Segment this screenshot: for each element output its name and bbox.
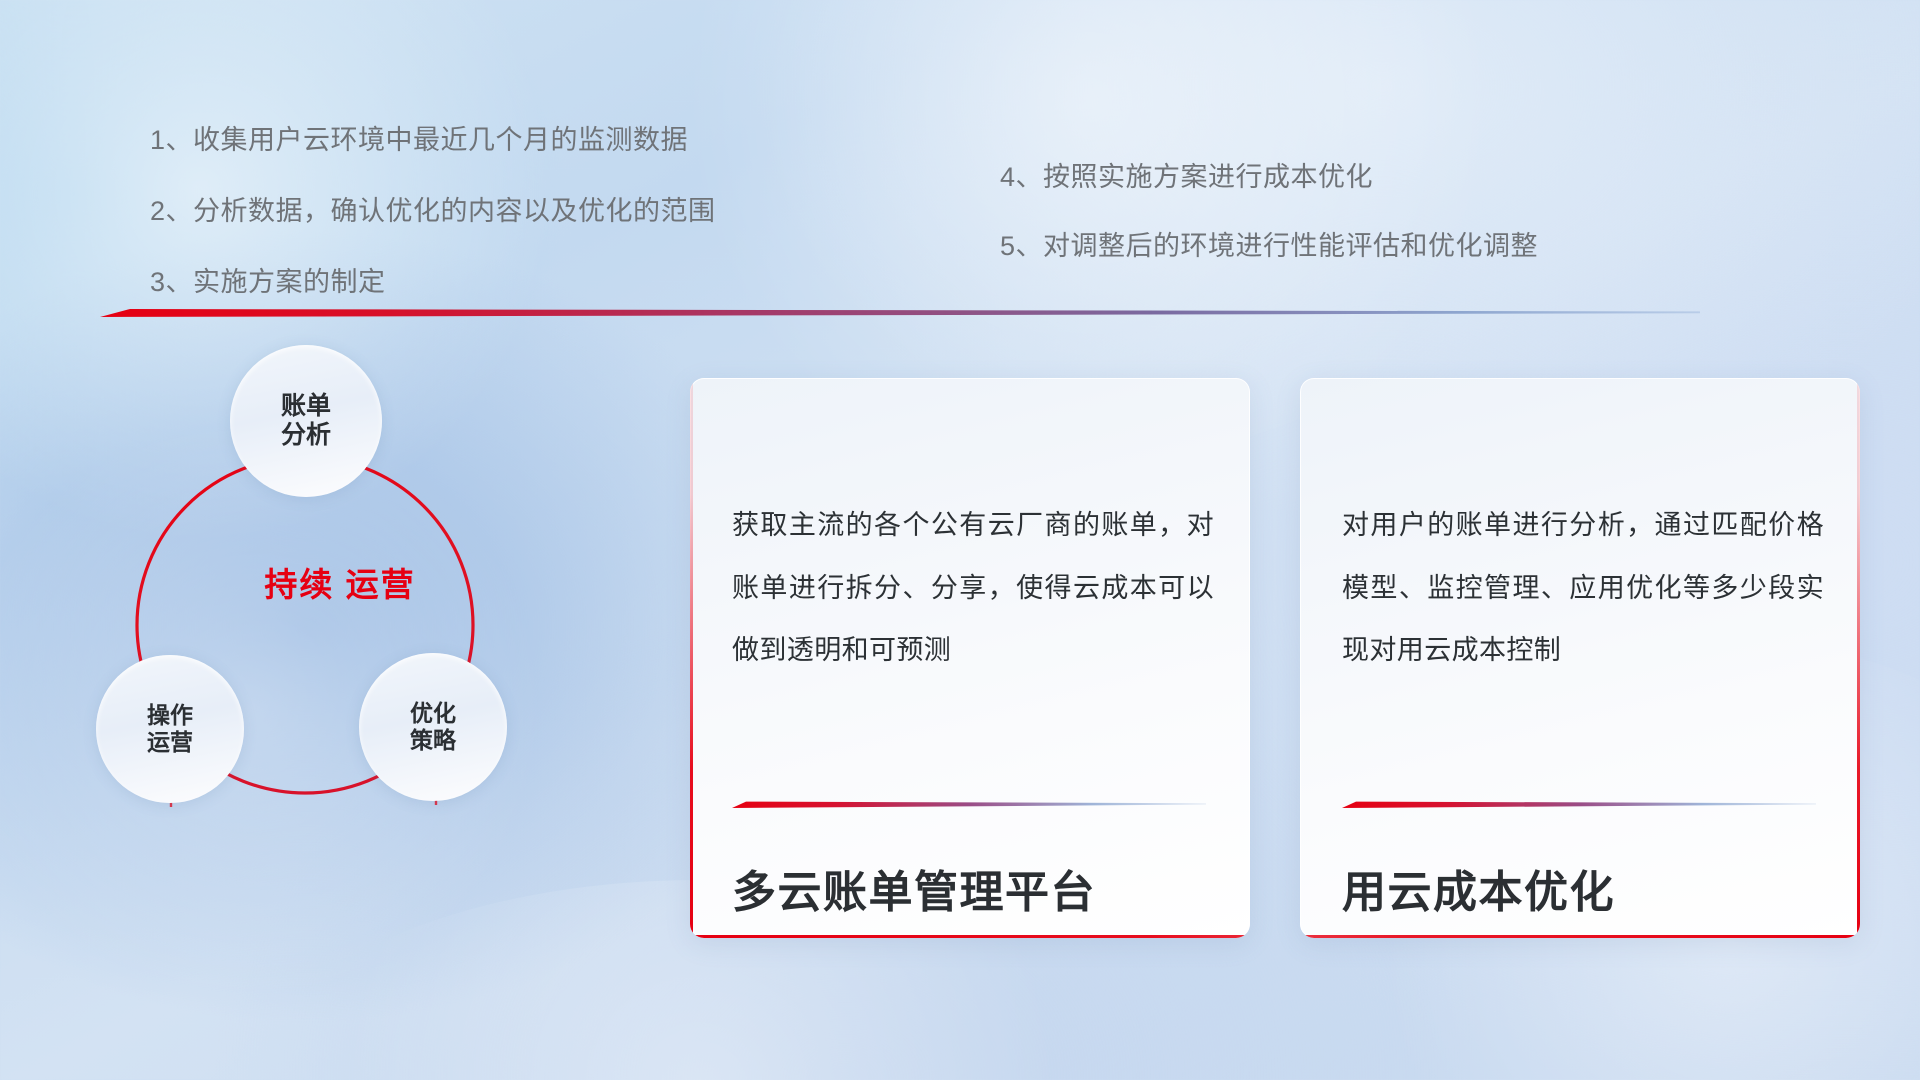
section-divider <box>100 305 1700 319</box>
card-divider <box>732 796 1206 805</box>
center-label-line2: 运营 <box>346 566 416 603</box>
card-description: 获取主流的各个公有云厂商的账单，对账单进行拆分、分享，使得云成本可以做到透明和可… <box>732 494 1214 682</box>
step-item: 3、实施方案的制定 <box>150 260 716 299</box>
feature-card-cloud-cost-optimization[interactable]: 对用户的账单进行分析，通过匹配价格模型、监控管理、应用优化等多少段实现对用云成本… <box>1300 378 1860 938</box>
node-label-line1: 优化 <box>410 700 456 727</box>
diagram-node-optimize-policy[interactable]: 优化 策略 <box>359 653 507 801</box>
center-label-line1: 持续 <box>264 566 334 603</box>
step-item: 4、按照实施方案进行成本优化 <box>1000 155 1538 194</box>
node-label-line1: 账单 <box>281 392 331 422</box>
steps-list-left: 1、收集用户云环境中最近几个月的监测数据 2、分析数据，确认优化的内容以及优化的… <box>150 118 716 331</box>
card-description: 对用户的账单进行分析，通过匹配价格模型、监控管理、应用优化等多少段实现对用云成本… <box>1342 494 1824 682</box>
diagram-center-label: 持续 运营 <box>255 565 425 605</box>
card-title: 用云成本优化 <box>1342 856 1615 920</box>
node-label-line1: 操作 <box>147 702 193 729</box>
step-item: 1、收集用户云环境中最近几个月的监测数据 <box>150 118 716 157</box>
diagram-node-ops-operation[interactable]: 操作 运营 <box>96 655 244 803</box>
step-item: 5、对调整后的环境进行性能评估和优化调整 <box>1000 224 1538 263</box>
card-title: 多云账单管理平台 <box>732 856 1096 920</box>
continuous-operation-diagram: 账单 分析 操作 运营 优化 策略 持续 运营 <box>95 355 615 945</box>
diagram-node-bill-analysis[interactable]: 账单 分析 <box>230 345 382 497</box>
node-label-line2: 分析 <box>281 421 331 451</box>
node-label-line2: 运营 <box>147 729 193 756</box>
step-item: 2、分析数据，确认优化的内容以及优化的范围 <box>150 189 716 228</box>
feature-card-multi-cloud-billing-platform[interactable]: 获取主流的各个公有云厂商的账单，对账单进行拆分、分享，使得云成本可以做到透明和可… <box>690 378 1250 938</box>
node-label-line2: 策略 <box>410 727 456 754</box>
steps-list-right: 4、按照实施方案进行成本优化 5、对调整后的环境进行性能评估和优化调整 <box>1000 155 1538 293</box>
card-divider <box>1342 796 1816 805</box>
